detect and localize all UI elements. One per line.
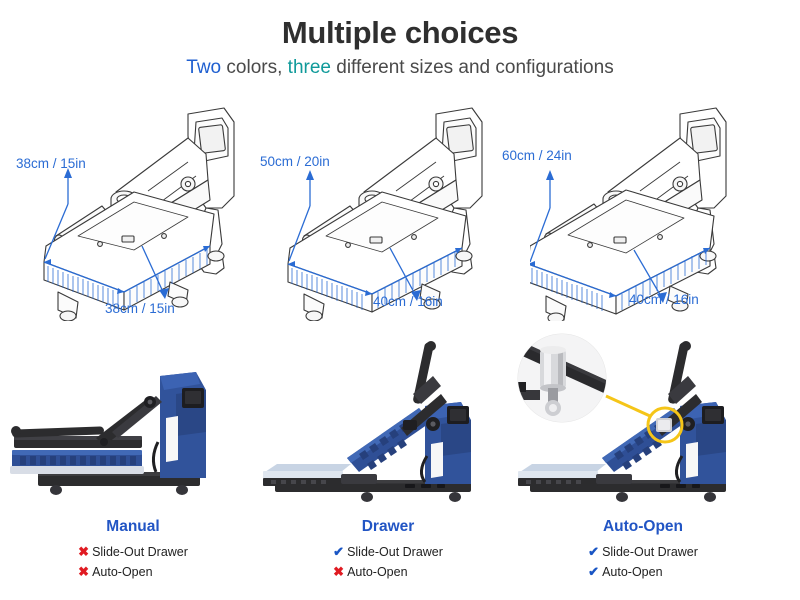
- feature-row: ✖Auto-Open: [78, 562, 188, 582]
- configuration-option-auto-open: Auto-Open ✔Slide-Out Drawer ✔Auto-Open: [510, 332, 776, 600]
- subtitle-text-mid2: different sizes and configurations: [331, 57, 614, 78]
- feature-row: ✔Slide-Out Drawer: [588, 542, 698, 562]
- size-depth-label: 38cm / 15in: [16, 156, 86, 171]
- configuration-option-drawer: Drawer ✔Slide-Out Drawer ✖Auto-Open: [255, 332, 521, 600]
- size-width-label: 40cm / 16in: [629, 292, 699, 307]
- size-depth-label: 50cm / 20in: [260, 154, 330, 169]
- feature-row: ✔Slide-Out Drawer: [333, 542, 443, 562]
- configuration-caption: Drawer ✔Slide-Out Drawer ✖Auto-Open: [255, 518, 521, 582]
- feature-row: ✔Auto-Open: [588, 562, 698, 582]
- heat-press-drawer-icon: [255, 332, 521, 517]
- feature-list: ✔Slide-Out Drawer ✔Auto-Open: [588, 542, 698, 583]
- cross-icon: ✖: [78, 542, 92, 562]
- configuration-option-manual: Manual ✖Slide-Out Drawer ✖Auto-Open: [0, 332, 266, 600]
- feature-list: ✔Slide-Out Drawer ✖Auto-Open: [333, 542, 443, 583]
- heat-press-auto-open-icon: [510, 332, 776, 517]
- check-icon: ✔: [588, 562, 602, 582]
- page-subtitle: Two colors, three different sizes and co…: [0, 58, 800, 79]
- configuration-caption: Auto-Open ✔Slide-Out Drawer ✔Auto-Open: [510, 518, 776, 582]
- check-icon: ✔: [588, 542, 602, 562]
- feature-label: Slide-Out Drawer: [602, 545, 698, 559]
- feature-label: Auto-Open: [602, 565, 662, 579]
- subtitle-highlight-three: three: [288, 57, 331, 78]
- configuration-caption: Manual ✖Slide-Out Drawer ✖Auto-Open: [0, 518, 266, 582]
- size-options-row: 38cm / 15in 38cm / 15in: [0, 96, 800, 331]
- configuration-name: Drawer: [255, 518, 521, 537]
- header: Multiple choices Two colors, three diffe…: [0, 0, 800, 79]
- size-width-label: 38cm / 15in: [105, 301, 175, 316]
- feature-list: ✖Slide-Out Drawer ✖Auto-Open: [78, 542, 188, 583]
- feature-row: ✖Slide-Out Drawer: [78, 542, 188, 562]
- check-icon: ✔: [333, 542, 347, 562]
- heat-press-outline-icon: [286, 96, 501, 321]
- feature-row: ✖Auto-Open: [333, 562, 443, 582]
- cross-icon: ✖: [333, 562, 347, 582]
- heat-press-manual-icon: [0, 332, 266, 517]
- heat-press-outline-icon: [530, 96, 745, 321]
- heat-press-outline-icon: [38, 96, 253, 321]
- subtitle-text-mid1: colors,: [221, 57, 288, 78]
- feature-label: Slide-Out Drawer: [92, 545, 188, 559]
- size-option-medium: 50cm / 20in 40cm / 16in: [248, 96, 514, 331]
- configuration-name: Auto-Open: [510, 518, 776, 537]
- page-title: Multiple choices: [0, 16, 800, 50]
- feature-label: Slide-Out Drawer: [347, 545, 443, 559]
- configuration-name: Manual: [0, 518, 266, 537]
- cross-icon: ✖: [78, 562, 92, 582]
- configuration-options-row: Manual ✖Slide-Out Drawer ✖Auto-Open: [0, 332, 800, 600]
- feature-label: Auto-Open: [347, 565, 407, 579]
- size-depth-label: 60cm / 24in: [502, 148, 572, 163]
- size-option-large: 60cm / 24in 40cm / 16in: [492, 96, 758, 331]
- size-option-small: 38cm / 15in 38cm / 15in: [0, 96, 266, 331]
- feature-label: Auto-Open: [92, 565, 152, 579]
- size-width-label: 40cm / 16in: [373, 294, 443, 309]
- subtitle-highlight-two: Two: [186, 57, 221, 78]
